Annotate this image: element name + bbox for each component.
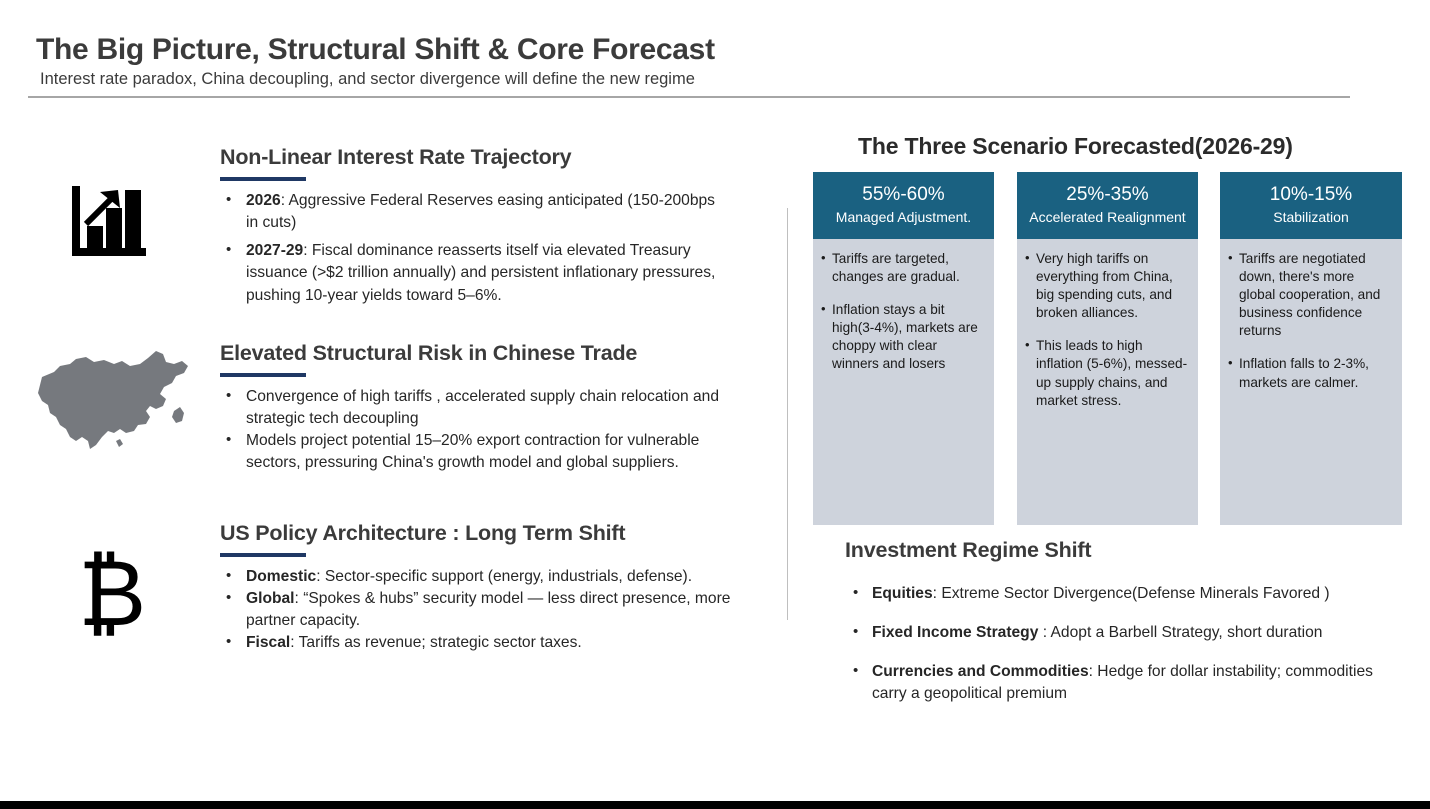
section-accent-underline [220, 177, 306, 181]
list-item: Tariffs are negotiated down, there's mor… [1228, 250, 1393, 340]
slide-canvas: The Big Picture, Structural Shift & Core… [0, 0, 1430, 809]
scenario-card-managed-adjustment[interactable]: 55%-60% Managed Adjustment. Tariffs are … [813, 172, 994, 525]
list-item: Global: “Spokes & hubs” security model —… [220, 588, 765, 632]
section-bullet-list: 2026: Aggressive Federal Reserves easing… [220, 190, 730, 307]
scenario-point-list: Very high tariffs on everything from Chi… [1025, 250, 1189, 410]
list-item: 2026: Aggressive Federal Reserves easing… [220, 190, 730, 234]
bar-chart-growth-icon [70, 184, 148, 269]
scenario-card-header: 10%-15% Stabilization [1220, 172, 1402, 239]
list-item: This leads to high inflation (5-6%), mes… [1025, 337, 1189, 409]
investment-regime-list: Equities: Extreme Sector Divergence(Defe… [848, 583, 1408, 723]
bullet-text: : Extreme Sector Divergence(Defense Mine… [933, 585, 1330, 602]
header-divider [28, 96, 1350, 98]
list-item: Inflation falls to 2-3%, markets are cal… [1228, 355, 1393, 391]
list-item: Very high tariffs on everything from Chi… [1025, 250, 1189, 322]
list-item: Currencies and Commodities: Hedge for do… [848, 661, 1408, 705]
scenario-point-list: Tariffs are negotiated down, there's mor… [1228, 250, 1393, 392]
scenario-probability: 25%-35% [1021, 184, 1194, 206]
list-item: Fixed Income Strategy : Adopt a Barbell … [848, 622, 1408, 644]
bullet-lead: 2026 [246, 192, 281, 209]
bullet-lead: 2027-29 [246, 242, 303, 259]
section-us-policy: US Policy Architecture : Long Term Shift… [220, 521, 765, 655]
bullet-text: : Tariffs as revenue; strategic sector t… [290, 634, 582, 651]
section-bullet-list: Domestic: Sector-specific support (energ… [220, 566, 765, 655]
list-item: 2027-29: Fiscal dominance reasserts itse… [220, 240, 730, 306]
section-title: Elevated Structural Risk in Chinese Trad… [220, 341, 720, 366]
bullet-text: Convergence of high tariffs , accelerate… [246, 388, 719, 427]
scenario-card-header: 25%-35% Accelerated Realignment [1017, 172, 1198, 239]
bitcoin-icon: ₿ [78, 548, 146, 640]
section-accent-underline [220, 373, 306, 377]
scenario-card-stabilization[interactable]: 10%-15% Stabilization Tariffs are negoti… [1220, 172, 1402, 525]
bullet-text: : Sector-specific support (energy, indus… [316, 568, 692, 585]
list-item: Tariffs are targeted, changes are gradua… [821, 250, 985, 286]
column-divider [787, 208, 788, 620]
section-interest-rate: Non-Linear Interest Rate Trajectory 2026… [220, 145, 730, 313]
scenario-card-accelerated-realignment[interactable]: 25%-35% Accelerated Realignment Very hig… [1017, 172, 1198, 525]
section-title: US Policy Architecture : Long Term Shift [220, 521, 765, 546]
page-title: The Big Picture, Structural Shift & Core… [36, 33, 715, 67]
list-item: Convergence of high tariffs , accelerate… [220, 386, 720, 430]
scenario-name: Accelerated Realignment [1021, 208, 1194, 226]
scenario-card-body: Very high tariffs on everything from Chi… [1017, 239, 1198, 435]
list-item: Domestic: Sector-specific support (energ… [220, 566, 765, 588]
bullet-text: : Aggressive Federal Reserves easing ant… [246, 192, 715, 231]
scenario-card-body: Tariffs are targeted, changes are gradua… [813, 239, 994, 398]
scenario-name: Stabilization [1224, 208, 1398, 226]
scenario-card-header: 55%-60% Managed Adjustment. [813, 172, 994, 239]
bullet-lead: Fixed Income Strategy [872, 624, 1038, 641]
page-subtitle: Interest rate paradox, China decoupling,… [40, 70, 695, 89]
scenario-point-list: Tariffs are targeted, changes are gradua… [821, 250, 985, 373]
china-map-icon [30, 345, 198, 462]
bullet-lead: Currencies and Commodities [872, 663, 1089, 680]
list-item: Models project potential 15–20% export c… [220, 430, 720, 474]
scenario-probability: 10%-15% [1224, 184, 1398, 206]
section-title: Non-Linear Interest Rate Trajectory [220, 145, 730, 170]
footer-bar [0, 801, 1430, 809]
list-item: Fiscal: Tariffs as revenue; strategic se… [220, 632, 765, 654]
bullet-lead: Equities [872, 585, 933, 602]
section-accent-underline [220, 553, 306, 557]
scenarios-title: The Three Scenario Forecasted(2026-29) [858, 133, 1293, 160]
bullet-lead: Fiscal [246, 634, 290, 651]
list-item: Equities: Extreme Sector Divergence(Defe… [848, 583, 1408, 605]
section-bullet-list: Convergence of high tariffs , accelerate… [220, 386, 720, 475]
bullet-text: : Adopt a Barbell Strategy, short durati… [1038, 624, 1322, 641]
bullet-text: Models project potential 15–20% export c… [246, 432, 699, 471]
bullet-lead: Domestic [246, 568, 316, 585]
scenario-card-body: Tariffs are negotiated down, there's mor… [1220, 239, 1402, 417]
bullet-text: : “Spokes & hubs” security model — less … [246, 590, 730, 629]
scenario-name: Managed Adjustment. [817, 208, 990, 226]
scenario-probability: 55%-60% [817, 184, 990, 206]
bullet-lead: Global [246, 590, 295, 607]
section-chinese-trade: Elevated Structural Risk in Chinese Trad… [220, 341, 720, 475]
bullet-text: : Fiscal dominance reasserts itself via … [246, 242, 715, 303]
investment-regime-title: Investment Regime Shift [845, 538, 1091, 563]
list-item: Inflation stays a bit high(3-4%), market… [821, 301, 985, 373]
